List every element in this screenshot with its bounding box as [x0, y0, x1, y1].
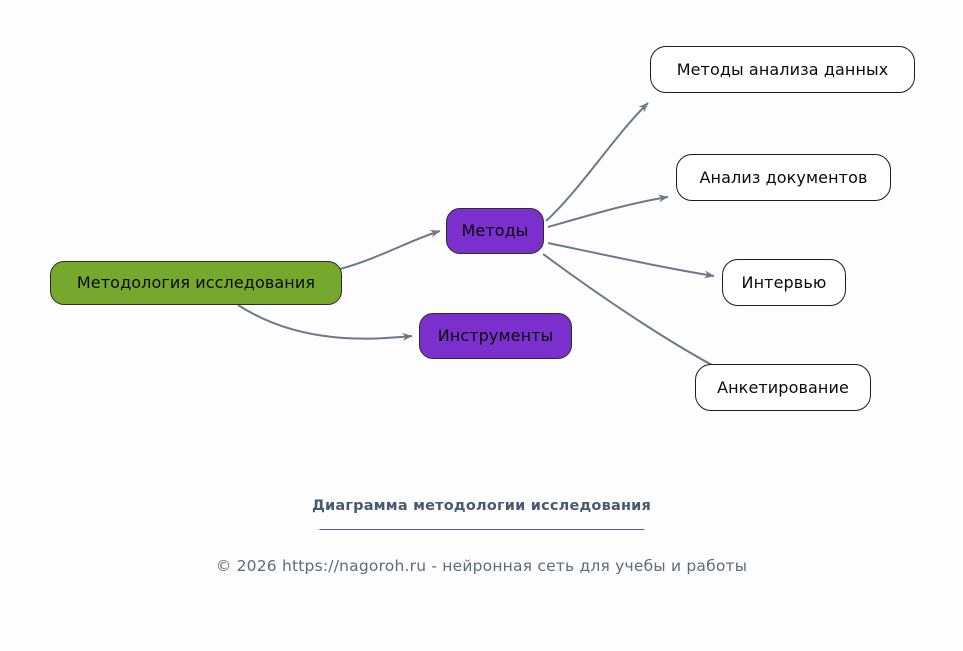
node-branch-tools[interactable]: Инструменты: [419, 313, 572, 359]
edge-methods-to-data-analysis-methods: [546, 103, 648, 221]
node-root-label: Методология исследования: [77, 274, 315, 292]
node-leaf-document-analysis-label: Анализ документов: [699, 169, 867, 187]
node-leaf-data-analysis-methods[interactable]: Методы анализа данных: [650, 46, 915, 93]
edge-root-to-methods: [340, 231, 440, 269]
edge-root-to-tools: [238, 305, 412, 339]
edge-methods-to-interview: [548, 243, 714, 276]
node-branch-tools-label: Инструменты: [438, 327, 554, 345]
node-leaf-data-analysis-methods-label: Методы анализа данных: [677, 61, 889, 79]
node-leaf-interview[interactable]: Интервью: [722, 259, 846, 306]
node-leaf-interview-label: Интервью: [742, 274, 827, 292]
node-leaf-survey[interactable]: Анкетирование: [695, 364, 871, 411]
footer-text: © 2026 https://nagoroh.ru - нейронная се…: [0, 557, 963, 575]
node-root-methodology[interactable]: Методология исследования: [50, 261, 342, 305]
caption-rule: ________________________________________…: [0, 516, 963, 531]
diagram-caption: Диаграмма методологии исследования: [0, 498, 963, 514]
node-leaf-document-analysis[interactable]: Анализ документов: [676, 154, 891, 201]
edge-methods-to-survey: [543, 254, 735, 377]
node-leaf-survey-label: Анкетирование: [717, 379, 849, 397]
edge-methods-to-document-analysis: [548, 197, 668, 227]
node-branch-methods-label: Методы: [461, 222, 528, 240]
diagram-canvas: Методология исследования Методы Инструме…: [0, 0, 963, 651]
node-branch-methods[interactable]: Методы: [446, 208, 544, 254]
